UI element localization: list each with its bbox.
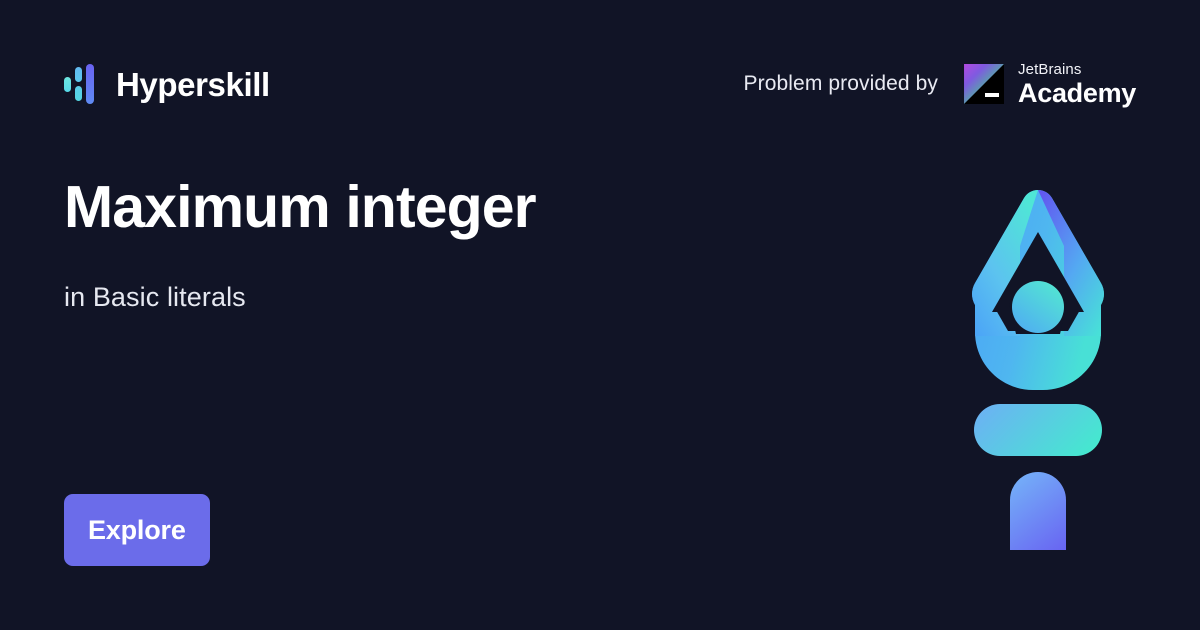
card-header: Hyperskill Problem provided by JetBrains… — [0, 0, 1200, 168]
topic-subtitle: in Basic literals — [64, 282, 844, 313]
problem-provider: Problem provided by JetBrains Academy — [744, 58, 1136, 110]
provided-by-label: Problem provided by — [744, 72, 939, 96]
academy-wordmark: Academy — [1018, 80, 1136, 107]
nib-inner-circle — [1012, 281, 1064, 333]
bar-vertical — [1010, 472, 1066, 550]
page-title: Maximum integer — [64, 176, 844, 240]
explore-button[interactable]: Explore — [64, 494, 210, 566]
jetbrains-academy-logo[interactable]: JetBrains Academy — [964, 62, 1136, 107]
hyperskill-bars-icon — [64, 64, 96, 104]
jetbrains-square-icon — [964, 64, 1004, 104]
hyperskill-brand-name: Hyperskill — [116, 68, 270, 101]
hyperskill-brand[interactable]: Hyperskill — [64, 61, 270, 107]
pill-horizontal — [974, 404, 1102, 456]
hyperskill-nib-torch-icon — [968, 186, 1108, 550]
card-main: Maximum integer in Basic literals Explor… — [64, 168, 844, 630]
jetbrains-wordmark: JetBrains — [1018, 62, 1136, 77]
social-preview-card: Hyperskill Problem provided by JetBrains… — [0, 0, 1200, 630]
